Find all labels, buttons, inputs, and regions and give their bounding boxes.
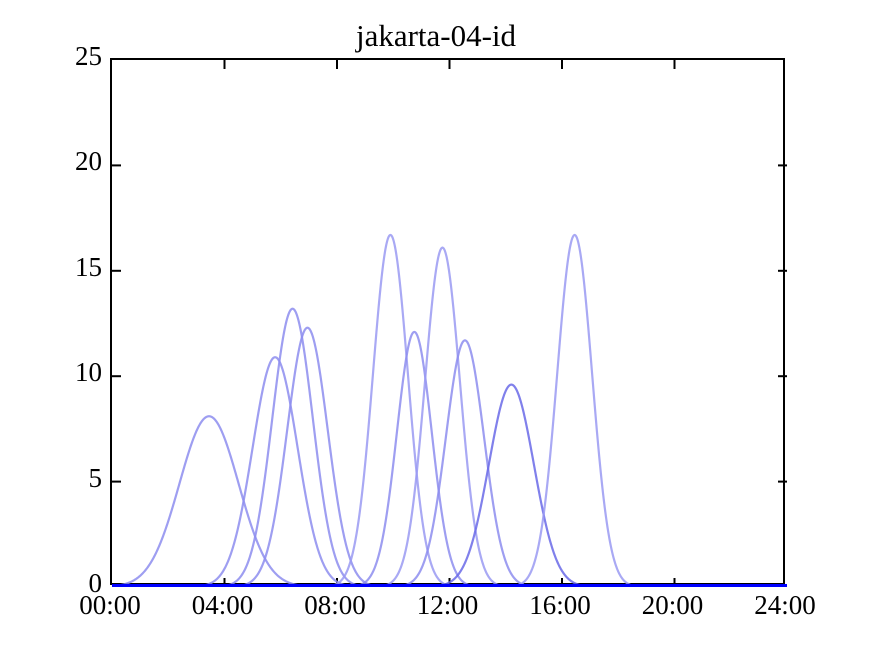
x-tick-label: 20:00 [613,592,733,619]
demand-curve [112,332,787,587]
x-tick-label: 04:00 [163,592,283,619]
x-tick-label: 08:00 [275,592,395,619]
plot-area [110,58,785,585]
y-axis-tick-labels: 0510152025 [50,58,102,585]
y-tick-label: 15 [58,254,102,281]
x-tick-label: 00:00 [50,592,170,619]
x-tick-label: 16:00 [500,592,620,619]
y-tick-label: 5 [58,465,102,492]
x-tick-label: 12:00 [388,592,508,619]
curve-canvas [112,60,787,587]
y-tick-label: 20 [58,148,102,175]
demand-curve [112,309,787,587]
page-title: jakarta-04-id [0,18,872,54]
chart-figure: jakarta-04-id 0510152025 00:0004:0008:00… [0,0,872,654]
y-tick-label: 25 [58,43,102,70]
demand-curve [112,328,787,587]
x-tick-label: 24:00 [725,592,845,619]
y-tick-label: 10 [58,359,102,386]
x-axis-tick-labels: 00:0004:0008:0012:0016:0020:0024:00 [110,592,785,632]
demand-curve [112,416,787,587]
